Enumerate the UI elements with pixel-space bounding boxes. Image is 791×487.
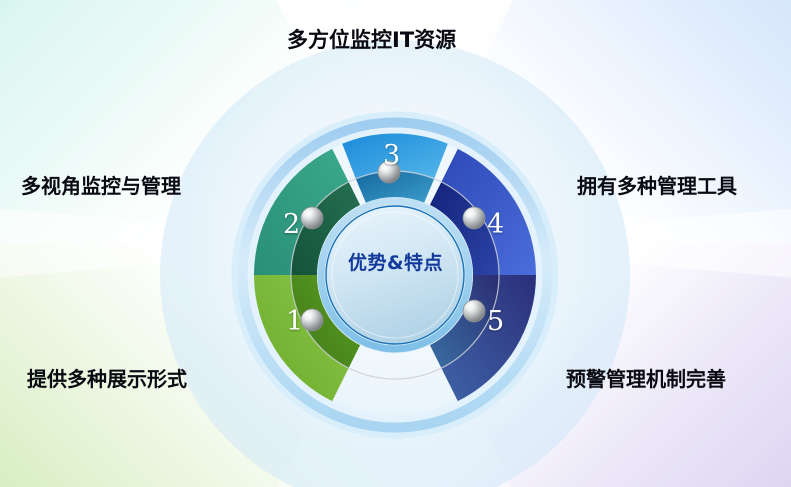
infographic-canvas: 1 2 3 4 5 优势&特点 多方位监控IT资源 多视角监控与管理 提供多种展… — [0, 0, 791, 487]
marker-sphere-1[interactable] — [301, 309, 323, 331]
caption-right-bottom: 预警管理机制完善 — [566, 363, 726, 392]
marker-sphere-5[interactable] — [463, 300, 485, 322]
caption-right-top: 拥有多种管理工具 — [577, 170, 737, 199]
hub-face[interactable] — [326, 206, 464, 344]
segment-number-2: 2 — [283, 211, 300, 238]
segment-number-5: 5 — [487, 308, 504, 335]
segment-number-3: 3 — [383, 142, 400, 169]
caption-left-top: 多视角监控与管理 — [21, 170, 181, 199]
caption-left-bottom: 提供多种展示形式 — [27, 363, 187, 392]
marker-sphere-4[interactable] — [463, 207, 485, 229]
marker-sphere-2[interactable] — [301, 207, 323, 229]
segment-number-4: 4 — [487, 211, 504, 238]
center-title: 优势&特点 — [325, 248, 466, 275]
caption-top: 多方位监控IT资源 — [287, 24, 456, 54]
segment-number-1: 1 — [286, 308, 303, 335]
